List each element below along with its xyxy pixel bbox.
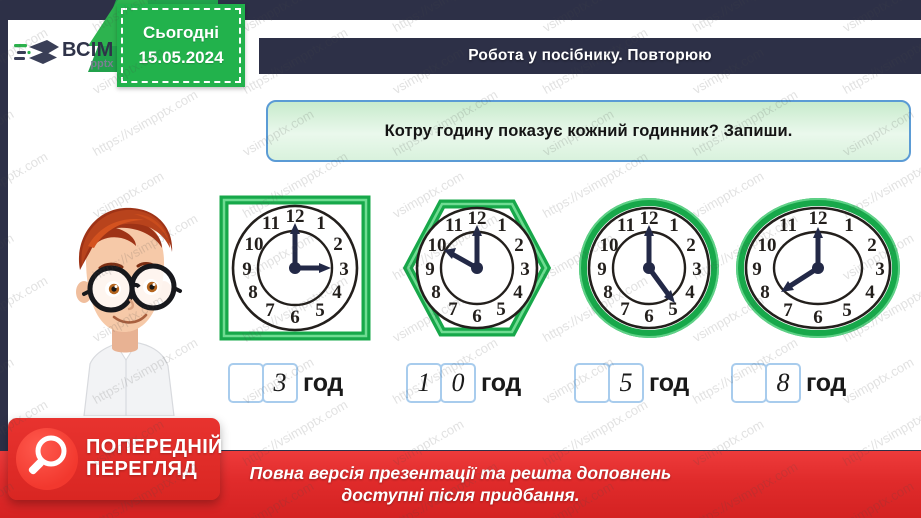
svg-text:2: 2	[333, 234, 343, 255]
answer-digit-box[interactable]: 8	[765, 363, 801, 403]
answer-unit-label: год	[303, 369, 343, 398]
answer-digit-box[interactable]: 3	[262, 363, 298, 403]
clock-3-circle: 1212 345 678 91011	[572, 192, 732, 352]
preview-badge[interactable]: ПОПЕРЕДНІЙ ПЕРЕГЛЯД	[8, 418, 220, 500]
svg-text:7: 7	[783, 300, 793, 321]
svg-text:10: 10	[245, 234, 264, 255]
svg-text:6: 6	[644, 306, 654, 327]
clocks-row: 1212 345 678 91011 1212 34	[210, 192, 910, 352]
svg-text:5: 5	[668, 299, 678, 320]
magnifier-icon	[16, 428, 78, 490]
svg-text:9: 9	[597, 259, 607, 280]
brand-logo[interactable]: ВСІМ pptx	[12, 32, 130, 78]
svg-text:9: 9	[242, 259, 252, 280]
svg-text:11: 11	[617, 215, 635, 236]
svg-text:8: 8	[248, 282, 258, 303]
logo-main-text: ВСІМ	[62, 40, 114, 60]
today-date-badge: Сьогодні 15.05.2024	[117, 4, 245, 87]
answer-digit-box[interactable]	[574, 363, 610, 403]
answer-unit-label: год	[649, 369, 689, 398]
date-badge-label: Сьогодні	[143, 21, 219, 46]
date-badge-value: 15.05.2024	[138, 46, 223, 71]
svg-text:5: 5	[496, 299, 506, 320]
svg-text:4: 4	[332, 282, 342, 303]
preview-line-1: ПОПЕРЕДНІЙ	[86, 437, 223, 459]
svg-text:5: 5	[842, 300, 852, 321]
logo-wordmark: ВСІМ pptx	[62, 40, 114, 70]
preview-badge-text: ПОПЕРЕДНІЙ ПЕРЕГЛЯД	[86, 437, 223, 480]
svg-text:11: 11	[445, 215, 463, 236]
answer-group-2: 1 0 год	[406, 363, 521, 403]
clock-2-hexagon: 1212 345 678 91011	[400, 192, 560, 352]
svg-text:5: 5	[315, 300, 325, 321]
graduation-cap-icon	[12, 35, 60, 75]
answer-digit-box[interactable]	[731, 363, 767, 403]
answer-digit-box[interactable]: 1	[406, 363, 442, 403]
answer-group-3: 5 год	[574, 363, 689, 403]
slide-stage: ВСІМ pptx Сьогодні 15.05.2024 Робота у п…	[0, 0, 921, 518]
svg-text:2: 2	[867, 235, 877, 256]
answer-group-4: 8 год	[731, 363, 846, 403]
svg-text:11: 11	[779, 215, 797, 236]
svg-text:10: 10	[600, 235, 619, 256]
svg-text:1: 1	[844, 215, 854, 236]
svg-text:6: 6	[813, 307, 823, 328]
header-bar: Робота у посібнику. Повторюю	[259, 38, 921, 74]
answer-unit-label: год	[481, 369, 521, 398]
svg-text:4: 4	[513, 282, 523, 303]
answers-row: 3 год 1 0 год 5 год 8 год	[210, 363, 910, 411]
banner-line-2: доступні після придбання.	[341, 485, 579, 507]
question-text: Котру годину показує кожний годинник? За…	[385, 122, 793, 141]
svg-text:8: 8	[603, 282, 613, 303]
svg-text:11: 11	[262, 213, 280, 234]
clock-4-ellipse: 1212 345 678 91011	[730, 192, 890, 352]
svg-text:8: 8	[760, 282, 770, 303]
answer-unit-label: год	[806, 369, 846, 398]
svg-text:9: 9	[425, 259, 435, 280]
answer-digit-box[interactable]: 0	[440, 363, 476, 403]
svg-text:9: 9	[752, 259, 762, 280]
svg-text:7: 7	[448, 299, 458, 320]
svg-text:6: 6	[290, 307, 300, 328]
clock-1-square: 1212 345 678 91011	[218, 192, 378, 352]
svg-text:2: 2	[686, 235, 696, 256]
svg-text:12: 12	[809, 208, 828, 229]
preview-line-2: ПЕРЕГЛЯД	[86, 459, 223, 481]
svg-text:1: 1	[497, 215, 507, 236]
svg-text:8: 8	[431, 282, 441, 303]
cartoon-boy-character	[38, 196, 206, 416]
svg-text:1: 1	[669, 215, 679, 236]
question-box: Котру годину показує кожний годинник? За…	[266, 100, 911, 162]
svg-text:10: 10	[428, 235, 447, 256]
svg-text:7: 7	[620, 299, 630, 320]
svg-text:4: 4	[865, 282, 875, 303]
answer-digit-box[interactable]: 5	[608, 363, 644, 403]
svg-text:1: 1	[316, 213, 326, 234]
answer-digit-box[interactable]	[228, 363, 264, 403]
svg-text:3: 3	[875, 259, 885, 280]
page-title: Робота у посібнику. Повторюю	[468, 47, 712, 65]
svg-text:2: 2	[514, 235, 524, 256]
answer-group-1: 3 год	[228, 363, 343, 403]
svg-text:7: 7	[265, 300, 275, 321]
banner-line-1: Повна версія презентації та решта доповн…	[250, 463, 672, 485]
svg-text:3: 3	[692, 259, 702, 280]
svg-text:4: 4	[685, 282, 695, 303]
svg-text:10: 10	[758, 235, 777, 256]
svg-text:3: 3	[520, 259, 530, 280]
svg-text:3: 3	[339, 259, 349, 280]
svg-text:6: 6	[472, 306, 482, 327]
